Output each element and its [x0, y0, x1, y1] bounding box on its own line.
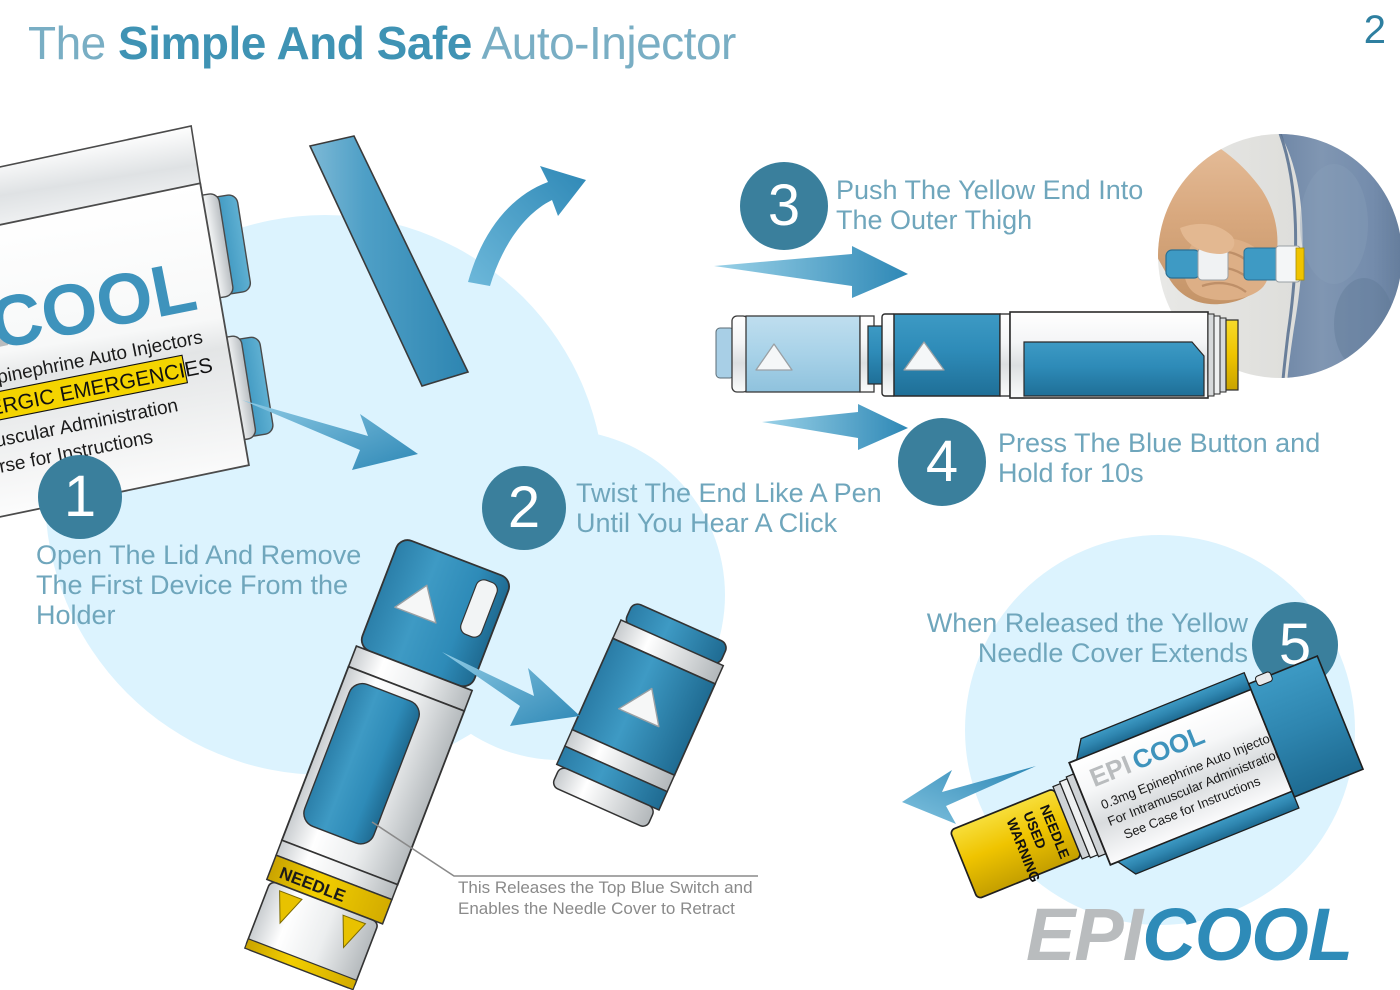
step-number-2: 2: [508, 479, 540, 537]
page-number: 2: [1364, 8, 1386, 53]
step-number-4: 4: [926, 433, 958, 491]
step-circle-2: 2: [482, 466, 566, 550]
lid-open-arrow: [462, 160, 602, 290]
step-circle-3: 3: [740, 162, 828, 250]
poster-canvas: The Simple And Safe Auto-Injector 2: [0, 0, 1400, 990]
page-title: The Simple And Safe Auto-Injector: [28, 16, 736, 70]
step-text-2: Twist The End Like A Pen Until You Hear …: [576, 478, 906, 538]
remove-device-arrow: [240, 392, 430, 482]
step5-extend-arrow: [900, 762, 1040, 832]
main-injector-illustration: [712, 300, 1252, 410]
step-circle-4: 4: [898, 418, 986, 506]
step4-press-arrow: [760, 404, 910, 458]
step2-pen-illustration: NEEDLE: [210, 540, 570, 990]
title-part-2: Simple And Safe: [118, 17, 472, 69]
retract-caption: This Releases the Top Blue Switch and En…: [458, 878, 788, 919]
step-number-3: 3: [768, 177, 800, 235]
step-text-5: When Released the Yellow Needle Cover Ex…: [908, 608, 1248, 668]
caption-leader-line: [370, 818, 760, 878]
title-part-3: Auto-Injector: [472, 17, 736, 69]
step3-push-arrow: [712, 248, 912, 308]
logo-epi: EPI: [1026, 893, 1142, 976]
step-text-3: Push The Yellow End Into The Outer Thigh: [836, 175, 1166, 235]
title-part-1: The: [28, 17, 118, 69]
step-circle-1: 1: [38, 455, 122, 539]
epicool-logo: EPICOOL: [1026, 898, 1352, 972]
logo-cool: COOL: [1142, 893, 1352, 976]
step-number-1: 1: [64, 468, 96, 526]
step-text-4: Press The Blue Button and Hold for 10s: [998, 428, 1338, 488]
twist-direction-arrow: [438, 640, 598, 750]
